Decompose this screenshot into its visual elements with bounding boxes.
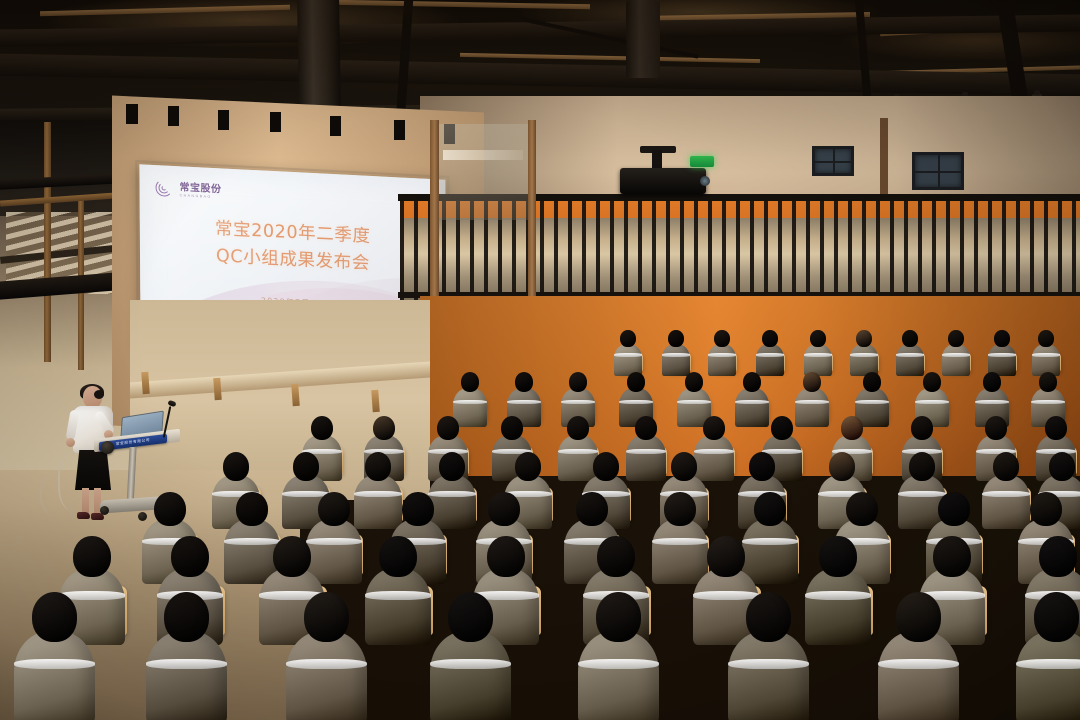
reflective-stripe bbox=[805, 591, 872, 599]
audience-member bbox=[14, 592, 95, 720]
audience-head bbox=[746, 592, 791, 642]
audience-head bbox=[461, 372, 480, 392]
audience-uniform bbox=[365, 568, 432, 645]
audience-head bbox=[1045, 416, 1067, 440]
audience-head bbox=[985, 416, 1007, 440]
reflective-stripe bbox=[735, 400, 768, 404]
audience-head bbox=[923, 372, 942, 392]
audience-head bbox=[703, 416, 725, 440]
audience-head bbox=[819, 536, 856, 577]
audience-uniform bbox=[850, 344, 878, 376]
audience-head bbox=[515, 372, 534, 392]
audience-uniform bbox=[878, 631, 959, 720]
audience-head bbox=[569, 372, 588, 392]
audience-head bbox=[1039, 372, 1058, 392]
audience-uniform bbox=[804, 344, 832, 376]
audience-member bbox=[1016, 592, 1080, 720]
audience-uniform bbox=[805, 568, 872, 645]
reflective-stripe bbox=[677, 400, 710, 404]
audience-head bbox=[597, 536, 634, 577]
audience-head bbox=[909, 452, 935, 481]
audience-head bbox=[993, 452, 1019, 481]
audience-head bbox=[803, 372, 822, 392]
audience-uniform bbox=[430, 631, 511, 720]
audience-member bbox=[728, 592, 809, 720]
reflective-stripe bbox=[430, 659, 511, 669]
audience-head bbox=[627, 372, 646, 392]
audience-head bbox=[437, 416, 459, 440]
reflective-stripe bbox=[1032, 353, 1060, 357]
reflective-stripe bbox=[453, 400, 486, 404]
reflective-stripe bbox=[578, 659, 659, 669]
audience-head bbox=[911, 416, 933, 440]
audience-head bbox=[223, 452, 249, 481]
reflective-stripe bbox=[942, 353, 970, 357]
audience-uniform bbox=[942, 344, 970, 376]
audience-head bbox=[685, 372, 704, 392]
audience-head bbox=[593, 452, 619, 481]
audience-uniform bbox=[146, 631, 227, 720]
audience-head bbox=[1049, 452, 1075, 481]
audience-head bbox=[841, 416, 863, 440]
audience-uniform bbox=[578, 631, 659, 720]
reflective-stripe bbox=[507, 400, 540, 404]
audience-head bbox=[762, 330, 778, 347]
audience-head bbox=[863, 372, 882, 392]
audience-head bbox=[896, 592, 941, 642]
reflective-stripe bbox=[662, 353, 690, 357]
reflective-stripe bbox=[561, 400, 594, 404]
audience-member bbox=[878, 592, 959, 720]
reflective-stripe bbox=[1031, 400, 1064, 404]
audience-member bbox=[805, 536, 872, 655]
reflective-stripe bbox=[728, 659, 809, 669]
audience-head bbox=[707, 536, 744, 577]
audience-head bbox=[293, 452, 319, 481]
audience-head bbox=[714, 330, 730, 347]
audience-uniform bbox=[662, 344, 690, 376]
audience-head bbox=[754, 492, 785, 526]
audience-member bbox=[578, 592, 659, 720]
audience-head bbox=[488, 492, 519, 526]
audience-head bbox=[487, 536, 524, 577]
reflective-stripe bbox=[915, 400, 948, 404]
reflective-stripe bbox=[804, 353, 832, 357]
audience-head bbox=[236, 492, 267, 526]
audience-head bbox=[402, 492, 433, 526]
audience-head bbox=[983, 372, 1002, 392]
reflective-stripe bbox=[286, 659, 367, 669]
audience-head bbox=[1039, 536, 1076, 577]
audience-head bbox=[635, 416, 657, 440]
reflective-stripe bbox=[365, 591, 432, 599]
audience-head bbox=[304, 592, 349, 642]
audience-uniform bbox=[14, 631, 95, 720]
audience-head bbox=[948, 330, 964, 347]
audience-head bbox=[664, 492, 695, 526]
audience-head bbox=[671, 452, 697, 481]
reflective-stripe bbox=[850, 353, 878, 357]
audience-uniform bbox=[756, 344, 784, 376]
audience-head bbox=[164, 592, 209, 642]
audience-head bbox=[994, 330, 1010, 347]
audience-head bbox=[379, 536, 416, 577]
audience-member bbox=[365, 536, 432, 655]
audience-member bbox=[286, 592, 367, 720]
audience-uniform bbox=[708, 344, 736, 376]
audience bbox=[0, 0, 1080, 720]
reflective-stripe bbox=[795, 400, 828, 404]
audience-head bbox=[273, 536, 310, 577]
audience-head bbox=[501, 416, 523, 440]
audience-head bbox=[1030, 492, 1061, 526]
audience-head bbox=[567, 416, 589, 440]
reflective-stripe bbox=[855, 400, 888, 404]
audience-uniform bbox=[728, 631, 809, 720]
audience-uniform bbox=[1032, 344, 1060, 376]
audience-head bbox=[318, 492, 349, 526]
audience-uniform bbox=[896, 344, 924, 376]
audience-head bbox=[829, 452, 855, 481]
audience-head bbox=[856, 330, 872, 347]
reflective-stripe bbox=[756, 353, 784, 357]
conference-photo-scene: 常宝股份 CHANGBAO 常宝2020年二季度 QC小组成果发布会 2020年… bbox=[0, 0, 1080, 720]
reflective-stripe bbox=[614, 353, 642, 357]
audience-member bbox=[708, 330, 736, 380]
audience-head bbox=[771, 416, 793, 440]
audience-head bbox=[373, 416, 395, 440]
audience-member bbox=[430, 592, 511, 720]
reflective-stripe bbox=[988, 353, 1016, 357]
audience-head bbox=[1034, 592, 1079, 642]
audience-uniform bbox=[988, 344, 1016, 376]
audience-head bbox=[596, 592, 641, 642]
reflective-stripe bbox=[896, 353, 924, 357]
audience-head bbox=[846, 492, 877, 526]
audience-head bbox=[902, 330, 918, 347]
audience-head bbox=[439, 452, 465, 481]
audience-head bbox=[668, 330, 684, 347]
audience-member bbox=[146, 592, 227, 720]
audience-head bbox=[620, 330, 636, 347]
audience-head bbox=[1038, 330, 1054, 347]
reflective-stripe bbox=[14, 659, 95, 669]
audience-head bbox=[810, 330, 826, 347]
audience-uniform bbox=[286, 631, 367, 720]
audience-uniform bbox=[1016, 631, 1080, 720]
reflective-stripe bbox=[146, 659, 227, 669]
audience-head bbox=[933, 536, 970, 577]
audience-head bbox=[365, 452, 391, 481]
audience-head bbox=[171, 536, 208, 577]
audience-head bbox=[73, 536, 110, 577]
audience-head bbox=[32, 592, 77, 642]
audience-head bbox=[576, 492, 607, 526]
reflective-stripe bbox=[975, 400, 1008, 404]
audience-head bbox=[448, 592, 493, 642]
reflective-stripe bbox=[1016, 659, 1080, 669]
reflective-stripe bbox=[619, 400, 652, 404]
audience-head bbox=[311, 416, 333, 440]
audience-head bbox=[515, 452, 541, 481]
audience-uniform bbox=[614, 344, 642, 376]
audience-head bbox=[154, 492, 185, 526]
audience-head bbox=[749, 452, 775, 481]
reflective-stripe bbox=[708, 353, 736, 357]
audience-head bbox=[743, 372, 762, 392]
reflective-stripe bbox=[878, 659, 959, 669]
audience-head bbox=[938, 492, 969, 526]
